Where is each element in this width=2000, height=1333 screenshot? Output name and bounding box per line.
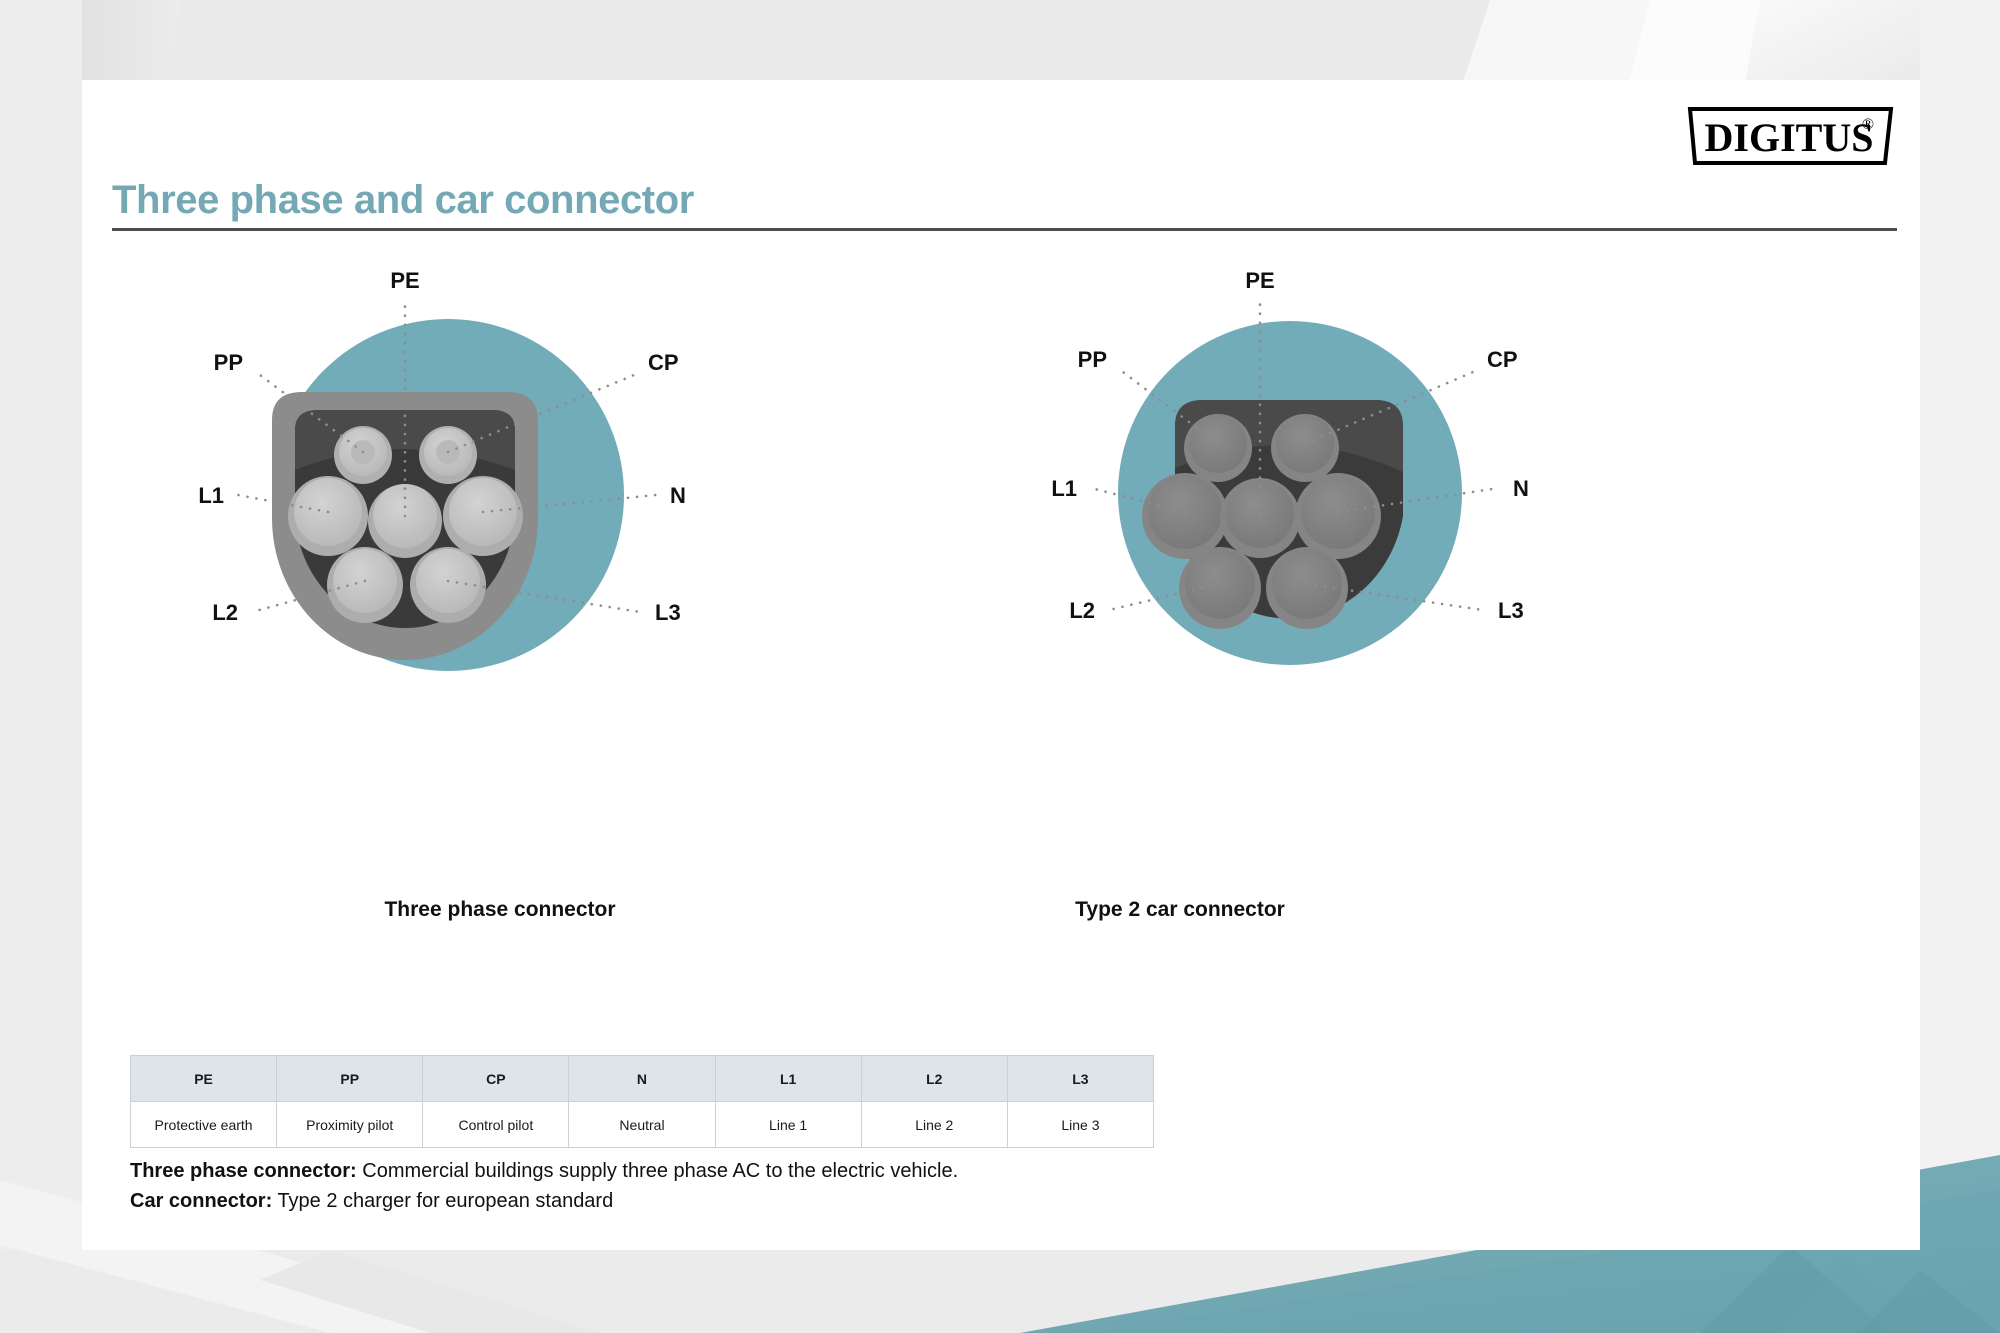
- table-cell: Neutral: [569, 1102, 715, 1148]
- pin-cp: [419, 426, 477, 484]
- pin-n: [443, 476, 523, 556]
- table-cell: Protective earth: [131, 1102, 277, 1148]
- registered-trademark-icon: ®: [1862, 116, 1874, 133]
- table-cell: Proximity pilot: [277, 1102, 423, 1148]
- label-l2: L2: [212, 600, 238, 625]
- label-pe: PE: [1245, 268, 1274, 293]
- label-pp: PP: [214, 350, 243, 375]
- pin-l1: [288, 476, 368, 556]
- label-cp: CP: [648, 350, 679, 375]
- pin-pe: [1220, 478, 1300, 558]
- table-header-cell: L1: [715, 1056, 861, 1102]
- type-2-car-connector-diagram: PE PP CP L1 N L2 L3: [1075, 320, 1795, 790]
- page-title: Three phase and car connector: [112, 178, 694, 223]
- title-divider: [112, 228, 1897, 231]
- pin-l2: [1179, 547, 1261, 629]
- pin-cp: [1271, 414, 1339, 482]
- label-l3: L3: [655, 600, 681, 625]
- table-row: Protective earth Proximity pilot Control…: [131, 1102, 1154, 1148]
- caption-three-phase-connector: Three phase connector: [320, 898, 680, 922]
- label-l3: L3: [1498, 598, 1524, 623]
- digitus-logo: DIGITUS ®: [1686, 105, 1894, 167]
- slide-canvas: DIGITUS ® Three phase and car connector: [0, 0, 2000, 1333]
- table-cell: Control pilot: [423, 1102, 569, 1148]
- table-header-cell: L3: [1007, 1056, 1153, 1102]
- table-header-cell: CP: [423, 1056, 569, 1102]
- logo-wordmark: DIGITUS: [1705, 115, 1874, 160]
- label-n: N: [670, 483, 686, 508]
- pin-pp: [334, 426, 392, 484]
- footnote-three-phase-connector: Three phase connector: Commercial buildi…: [130, 1160, 958, 1183]
- label-l2: L2: [1069, 598, 1095, 623]
- three-phase-connector-diagram: PE PP CP L1 N L2 L3: [200, 320, 920, 800]
- table-cell: Line 3: [1007, 1102, 1153, 1148]
- pin-pp: [1184, 414, 1252, 482]
- footnote-car-connector: Car connector: Type 2 charger for europe…: [130, 1190, 613, 1213]
- label-pe: PE: [390, 268, 419, 293]
- pin-n: [1295, 473, 1381, 559]
- label-l1: L1: [198, 483, 224, 508]
- footnote-label: Three phase connector:: [130, 1160, 357, 1182]
- label-cp: CP: [1487, 347, 1518, 372]
- table-header-cell: PE: [131, 1056, 277, 1102]
- label-n: N: [1513, 476, 1529, 501]
- pin-legend-table: PE PP CP N L1 L2 L3 Protective earth Pro…: [130, 1055, 1154, 1148]
- label-l1: L1: [1051, 476, 1077, 501]
- label-pp: PP: [1078, 347, 1107, 372]
- table-cell: Line 2: [861, 1102, 1007, 1148]
- table-header-cell: N: [569, 1056, 715, 1102]
- table-header-cell: L2: [861, 1056, 1007, 1102]
- pin-l1: [1142, 473, 1228, 559]
- pin-l3: [1266, 547, 1348, 629]
- footnote-text: Type 2 charger for european standard: [272, 1190, 613, 1212]
- footnote-label: Car connector:: [130, 1190, 272, 1212]
- table-header-cell: PP: [277, 1056, 423, 1102]
- pin-l2: [327, 547, 403, 623]
- table-header-row: PE PP CP N L1 L2 L3: [131, 1056, 1154, 1102]
- footnote-text: Commercial buildings supply three phase …: [357, 1160, 958, 1182]
- table-cell: Line 1: [715, 1102, 861, 1148]
- caption-type-2-car-connector: Type 2 car connector: [1000, 898, 1360, 922]
- pin-pe: [368, 484, 442, 558]
